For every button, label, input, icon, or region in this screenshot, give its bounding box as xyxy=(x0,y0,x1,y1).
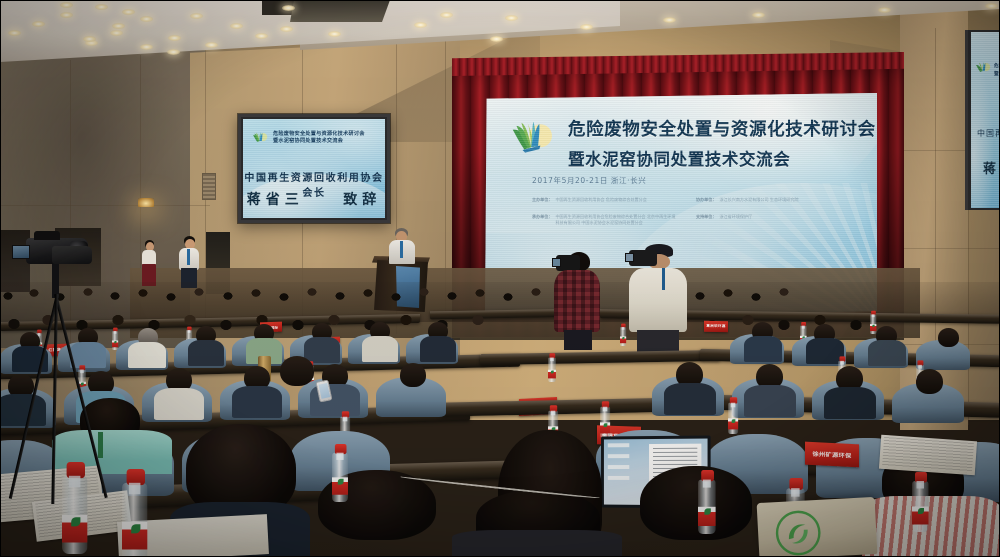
staff-lanyard xyxy=(187,249,190,265)
main-screen-title-block: 危险废物安全处置与资源化技术研讨会 暨水泥窑协同处置技术交流会 xyxy=(568,116,876,170)
ceiling-downlight xyxy=(60,12,73,18)
ceiling-downlight xyxy=(167,49,180,55)
panel-seam xyxy=(0,205,210,206)
fine-print-value: 浙江长兴南方水泥有限公司 生态环境研究院 xyxy=(719,197,842,204)
fine-print-label: 主办单位： xyxy=(532,197,552,204)
ceiling-downlight xyxy=(122,9,135,15)
stage-staff-man xyxy=(178,236,200,288)
stage-staff-woman xyxy=(140,240,158,286)
photographer-polo xyxy=(629,268,687,332)
ceiling-downlight xyxy=(60,2,73,8)
water-bottle[interactable] xyxy=(870,314,876,334)
right-projection-screen-frame: 危险废物安全处置与 暨水泥窑协同处置 中国再生资 蒋省 xyxy=(965,30,1000,210)
green-fan-leaf-logo xyxy=(252,132,269,148)
fine-print-value: 中国再生资源回收利用协会 危险废物综合处置分会 xyxy=(555,197,678,204)
camera-lcd-screen xyxy=(12,245,30,259)
ceiling-downlight xyxy=(112,23,125,29)
ceiling-downlight xyxy=(490,36,503,42)
photographer-trousers xyxy=(564,330,592,350)
ceiling-downlight xyxy=(205,42,218,48)
printed-handout[interactable] xyxy=(879,435,977,476)
audience-member-foreground-right xyxy=(624,466,764,557)
water-bottle[interactable] xyxy=(912,481,929,532)
fine-print-row: 支持单位： 浙江省环境保护厅 xyxy=(696,214,842,227)
audience-member-foreground-center xyxy=(300,470,450,557)
audience-torso xyxy=(420,336,456,362)
ceiling-downlight xyxy=(110,30,123,36)
speaker-action-text: 致辞 xyxy=(343,192,381,208)
ceiling-downlight xyxy=(505,15,518,21)
ceiling-downlight xyxy=(328,31,341,37)
audience-striped-shirt xyxy=(862,496,1000,557)
fine-print-row: 协办单位： 浙江长兴南方水泥有限公司 生态环境研究院 xyxy=(696,197,842,204)
ceiling-downlight xyxy=(878,7,891,13)
placard-text: 徐州矿源环保 xyxy=(813,449,852,459)
audience-torso xyxy=(188,340,224,366)
ceiling-downlight xyxy=(580,24,593,30)
tripod-leg xyxy=(51,294,58,504)
right-screen-scanline-overlay xyxy=(971,32,1000,208)
audience-head xyxy=(938,328,959,347)
ceiling-downlight xyxy=(282,5,295,11)
fine-print-label: 承办单位： xyxy=(532,214,552,227)
left-screen-header-line2: 暨水泥窑协同处置技术交流会 xyxy=(273,138,365,144)
fine-print-row: 承办单位： 中国再生资源回收利用协会危险废物综合处置分会 北京中再生环境科技有限… xyxy=(532,214,678,227)
camera-lcd xyxy=(552,258,561,267)
water-bottle[interactable] xyxy=(620,327,626,346)
right-projection-screen: 危险废物安全处置与 暨水泥窑协同处置 中国再生资 蒋省 xyxy=(971,32,1000,208)
water-bottle[interactable] xyxy=(122,483,147,557)
panel-seam xyxy=(900,248,1000,249)
speaker-name-text: 蒋省三 xyxy=(247,192,304,208)
fine-print-row: 主办单位： 中国再生资源回收利用协会 危险废物综合处置分会 xyxy=(532,197,678,204)
ceiling-downlight xyxy=(280,26,293,32)
ceiling-downlight xyxy=(8,30,21,36)
table-placard[interactable]: 徐州矿源环保 xyxy=(805,442,859,468)
ceiling-downlight xyxy=(140,44,153,50)
left-screen-speaker-name: 蒋省三 致辞 xyxy=(243,189,385,209)
audience-head xyxy=(280,356,314,386)
ceiling-downlight xyxy=(32,21,45,27)
tripod-leg xyxy=(54,294,108,498)
video-camera-on-tripod xyxy=(12,238,108,528)
green-recycle-circle-logo xyxy=(773,508,823,557)
main-screen-title-line1: 危险废物安全处置与资源化技术研讨会 xyxy=(568,116,876,141)
main-screen-header: 危险废物安全处置与资源化技术研讨会 暨水泥窑协同处置技术交流会 xyxy=(510,116,876,170)
audience-hair xyxy=(640,466,752,540)
audience-head xyxy=(916,369,943,394)
ceiling-downlight xyxy=(168,35,181,41)
photographer-in-red-plaid-shirt xyxy=(550,252,604,348)
wall-air-grille xyxy=(202,173,216,200)
audience-head xyxy=(400,363,426,387)
camera-lcd xyxy=(625,253,634,262)
ceiling-downlight xyxy=(140,16,153,22)
second-video-camera xyxy=(52,246,92,264)
phone-screen xyxy=(318,383,330,399)
water-bottle[interactable] xyxy=(728,403,738,434)
audience-torso xyxy=(868,340,906,366)
ceiling-downlight xyxy=(752,12,765,18)
audience-torso xyxy=(362,336,398,362)
audience-torso xyxy=(664,383,716,415)
ceiling-downlight xyxy=(414,22,427,28)
left-screen-header-line1: 危险废物安全处置与资源化技术研讨会 xyxy=(273,131,365,137)
ceiling-downlight xyxy=(255,33,268,39)
audience-shoulders xyxy=(452,530,622,557)
audience-torso xyxy=(744,385,796,417)
main-screen-date-location: 2017年5月20-21日 浙江·长兴 xyxy=(532,175,646,186)
ceiling-downlight xyxy=(663,17,676,23)
main-screen-fine-print: 主办单位： 中国再生资源回收利用协会 危险废物综合处置分会 协办单位： 浙江长兴… xyxy=(532,197,842,227)
main-screen-title-line2: 暨水泥窑协同处置技术交流会 xyxy=(568,146,876,170)
ceiling-downlight xyxy=(440,12,453,18)
fine-print-label: 协办单位： xyxy=(696,197,716,204)
left-screen-header: 危险废物安全处置与资源化技术研讨会 暨水泥窑协同处置技术交流会 xyxy=(252,131,378,148)
water-bottle[interactable] xyxy=(698,480,716,534)
stage-speaker xyxy=(389,228,415,262)
ceiling-downlight xyxy=(95,4,108,10)
speaker-lanyard xyxy=(400,241,403,258)
left-projection-screen: 危险废物安全处置与资源化技术研讨会 暨水泥窑协同处置技术交流会 中国再生资源回收… xyxy=(243,119,385,218)
fine-print-value: 浙江省环境保护厅 xyxy=(719,214,842,227)
camera-viewfinder-hood xyxy=(34,231,60,240)
ceiling-projector-mount xyxy=(290,0,390,22)
green-fan-leaf-logo xyxy=(510,122,558,168)
left-screen-title-block: 危险废物安全处置与资源化技术研讨会 暨水泥窑协同处置技术交流会 xyxy=(273,131,365,144)
ceiling-downlight xyxy=(190,13,203,19)
audience-torso xyxy=(744,336,782,362)
ceiling-downlight xyxy=(985,3,998,9)
wall-sconce-light xyxy=(138,198,154,207)
table-placard[interactable]: 葛洲坝环嘉 xyxy=(704,321,728,332)
water-bottle[interactable] xyxy=(332,453,348,502)
audience-torso xyxy=(128,342,166,368)
audience-torso xyxy=(824,387,876,419)
photographer-shirt xyxy=(554,270,600,332)
photographer-in-white-polo-with-cap xyxy=(627,244,689,352)
audience-member-foreground-woman xyxy=(452,490,622,557)
fine-print-label: 支持单位： xyxy=(696,214,716,227)
ceiling-downlight xyxy=(83,36,96,42)
left-projection-screen-frame: 危险废物安全处置与资源化技术研讨会 暨水泥窑协同处置技术交流会 中国再生资源回收… xyxy=(238,114,390,223)
conference-tote-bag[interactable] xyxy=(757,497,878,557)
ceiling-downlight xyxy=(230,23,243,29)
photographer-lanyard xyxy=(662,268,665,290)
photographer-trousers xyxy=(637,330,679,352)
fine-print-value: 中国再生资源回收利用协会危险废物综合处置分会 北京中再生环境科技有限公司 中国水… xyxy=(555,214,678,227)
audience-member-with-phone xyxy=(268,356,328,418)
water-bottle[interactable] xyxy=(548,358,556,382)
placard-text: 葛洲坝环嘉 xyxy=(706,324,725,329)
conference-hall-photo: 危险废物安全处置与资源化技术研讨会 暨水泥窑协同处置技术交流会 2017年5月2… xyxy=(0,0,1000,557)
